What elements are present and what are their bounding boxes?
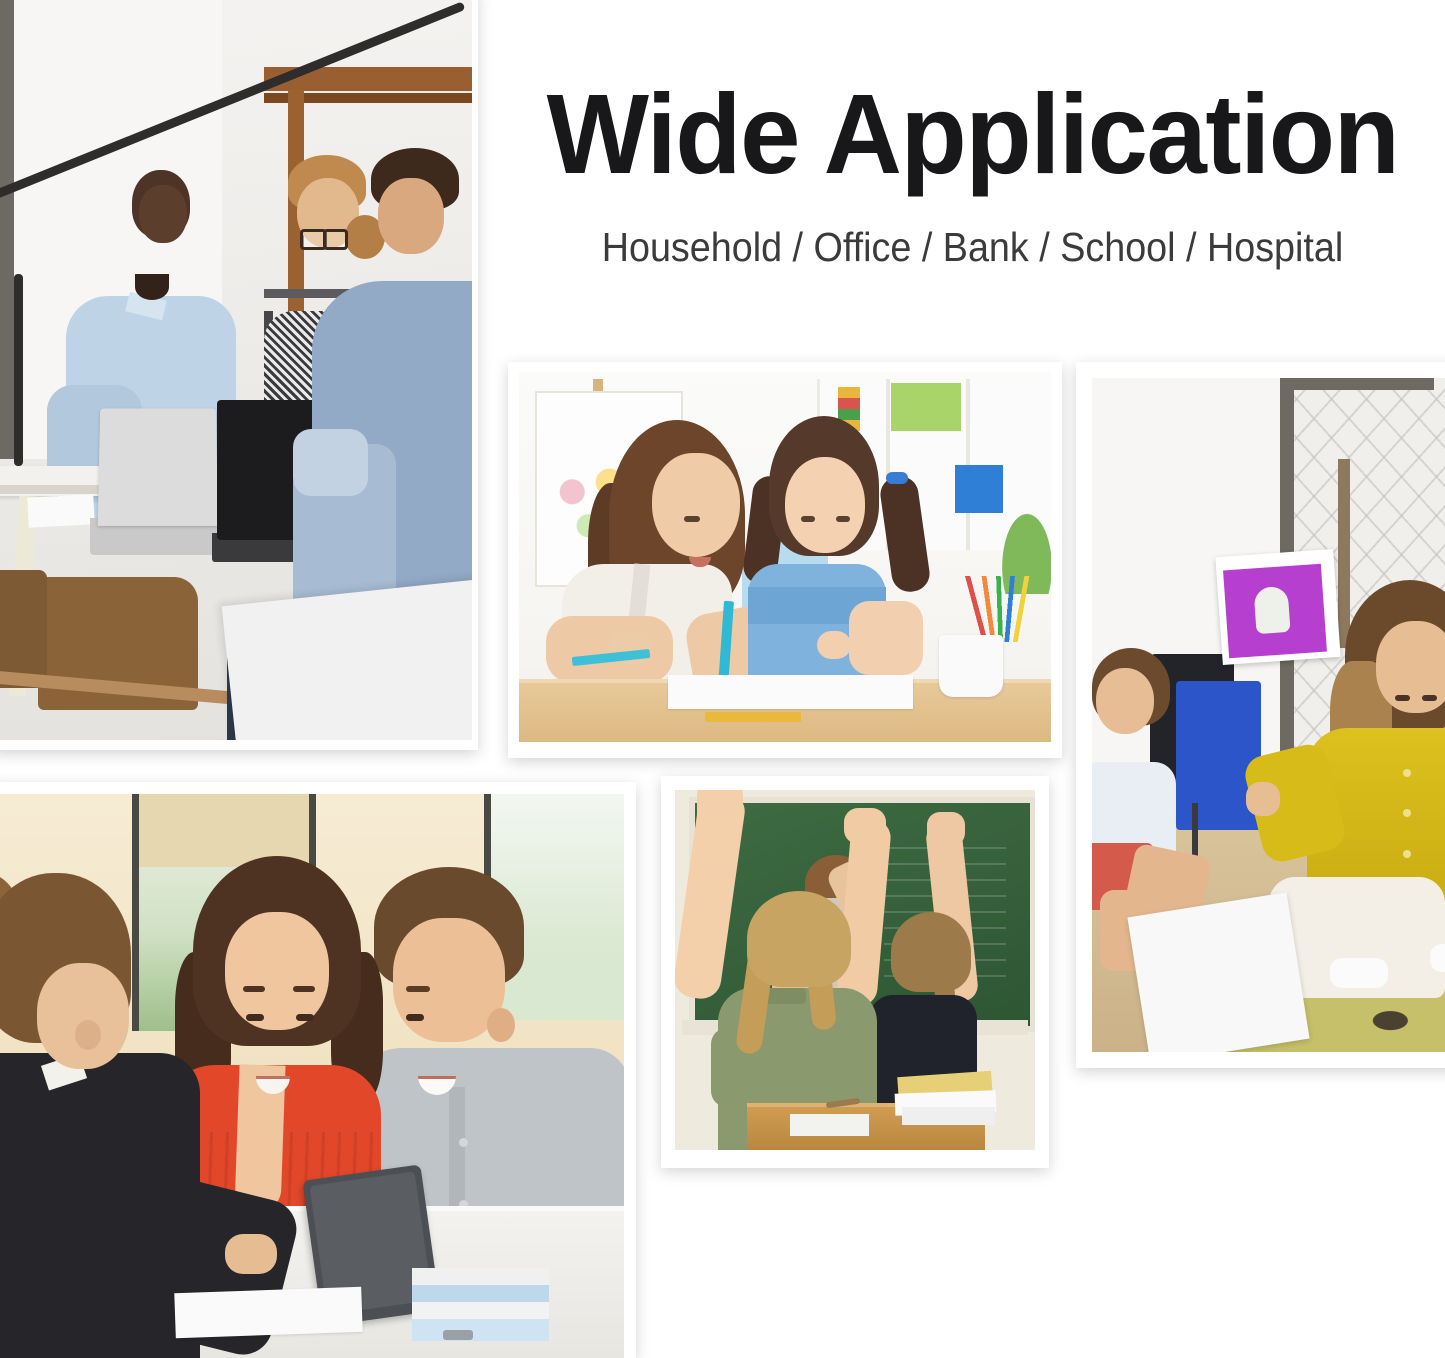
photo-consultation: [0, 782, 636, 1358]
classroom-paper: [790, 1114, 869, 1136]
consultation-man-button-1: [459, 1138, 468, 1147]
tutoring-woman-eye: [684, 516, 700, 522]
photo-therapy-session: [1076, 362, 1445, 1068]
consultation-scene: [0, 794, 624, 1358]
classroom-girl-fist: [844, 808, 886, 844]
consultation-man-brow: [406, 986, 430, 992]
photo-tutoring-image: [519, 372, 1051, 742]
consultation-document-stack-4: [412, 1319, 549, 1342]
tutoring-woman-face: [652, 453, 740, 557]
photo-consultation-image: [0, 794, 624, 1358]
photo-office-meeting-image: [0, 0, 472, 740]
tutoring-child-face: [785, 457, 865, 553]
therapy-flash-card-glyph: [1254, 586, 1291, 634]
tutoring-notebook: [668, 675, 913, 708]
consultation-man-eye: [406, 1014, 424, 1021]
tutoring-stacking-toy-ring-1: [838, 387, 860, 398]
consultation-woman-eye-left: [246, 1014, 264, 1021]
classroom-right-child-fist: [927, 812, 965, 846]
page-subtitle: Household / Office / Bank / School / Hos…: [538, 227, 1407, 268]
photo-classroom: [661, 776, 1049, 1168]
tutoring-scene: [519, 372, 1051, 742]
tutoring-stacking-toy-ring-2: [838, 398, 860, 409]
tutoring-child-eye-left: [801, 516, 815, 522]
photo-therapy-session-image: [1092, 378, 1445, 1052]
consultation-woman-face: [225, 912, 329, 1030]
classroom-girl-hair: [747, 891, 851, 987]
therapy-woman-eye-left: [1395, 695, 1410, 701]
office-handrail-post: [14, 274, 23, 466]
tutoring-colored-pencils: [923, 576, 1035, 643]
page-title: Wide Application: [519, 78, 1426, 191]
office-door-frame: [0, 0, 14, 459]
office-person-legs-2: [0, 570, 47, 688]
therapy-woman-eye-right: [1422, 695, 1437, 701]
therapy-door-bar: [1338, 459, 1350, 648]
therapy-white-paper: [1127, 892, 1309, 1052]
therapy-child-face: [1096, 668, 1154, 734]
office-person-a-face: [139, 185, 187, 243]
consultation-papers: [174, 1287, 363, 1339]
consultation-advisor-ear: [75, 1020, 101, 1050]
tutoring-blue-box: [955, 465, 1003, 513]
photo-office-meeting: [0, 0, 478, 750]
header-text-block: Wide Application Household / Office / Ba…: [500, 78, 1445, 268]
photo-classroom-image: [675, 790, 1035, 1150]
tutoring-pencil-cup: [939, 635, 1003, 697]
tutoring-stacking-toy-ring-3: [838, 409, 860, 420]
consultation-advisor-face: [37, 963, 129, 1069]
office-person-b-glasses-right: [323, 229, 348, 250]
therapy-woman-button-3: [1403, 850, 1411, 858]
consultation-woman-brow-right: [293, 986, 315, 992]
office-person-c-head: [378, 178, 444, 254]
office-foreground-board: [222, 579, 472, 740]
office-paper: [28, 494, 96, 527]
classroom-right-child-hair: [891, 912, 971, 992]
therapy-woman-shoe-right: [1430, 944, 1445, 972]
consultation-woman-eye-right: [296, 1014, 314, 1021]
therapy-woman-button-1: [1403, 769, 1411, 777]
consultation-woman-brow-left: [243, 986, 265, 992]
tutoring-green-box: [891, 383, 960, 431]
therapy-scene: [1092, 378, 1445, 1052]
consultation-binder-clip: [443, 1330, 473, 1340]
office-scene: [0, 0, 472, 740]
therapy-window-frame-top: [1280, 378, 1434, 390]
office-person-c-cuff: [293, 429, 369, 496]
classroom-foreground-raised-hand: [697, 790, 744, 840]
therapy-woman-hand: [1246, 782, 1280, 816]
consultation-advisor-hand: [225, 1234, 277, 1274]
photo-tutoring: [508, 362, 1062, 758]
consultation-man-ear: [487, 1008, 515, 1042]
office-laptop-silver: [98, 409, 218, 527]
tutoring-yellow-pencil: [705, 712, 801, 722]
office-person-a-beard: [135, 274, 169, 300]
consultation-window-mullion-1: [132, 794, 139, 1031]
tutoring-child-eye-right: [836, 516, 850, 522]
tutoring-child-hair-tie: [886, 472, 908, 484]
classroom-scene: [675, 790, 1035, 1150]
classroom-book-grey: [902, 1107, 996, 1125]
tutoring-child-hand: [817, 631, 851, 659]
tutoring-child-arm: [849, 601, 923, 675]
therapy-woman-shoe-left: [1330, 958, 1388, 988]
